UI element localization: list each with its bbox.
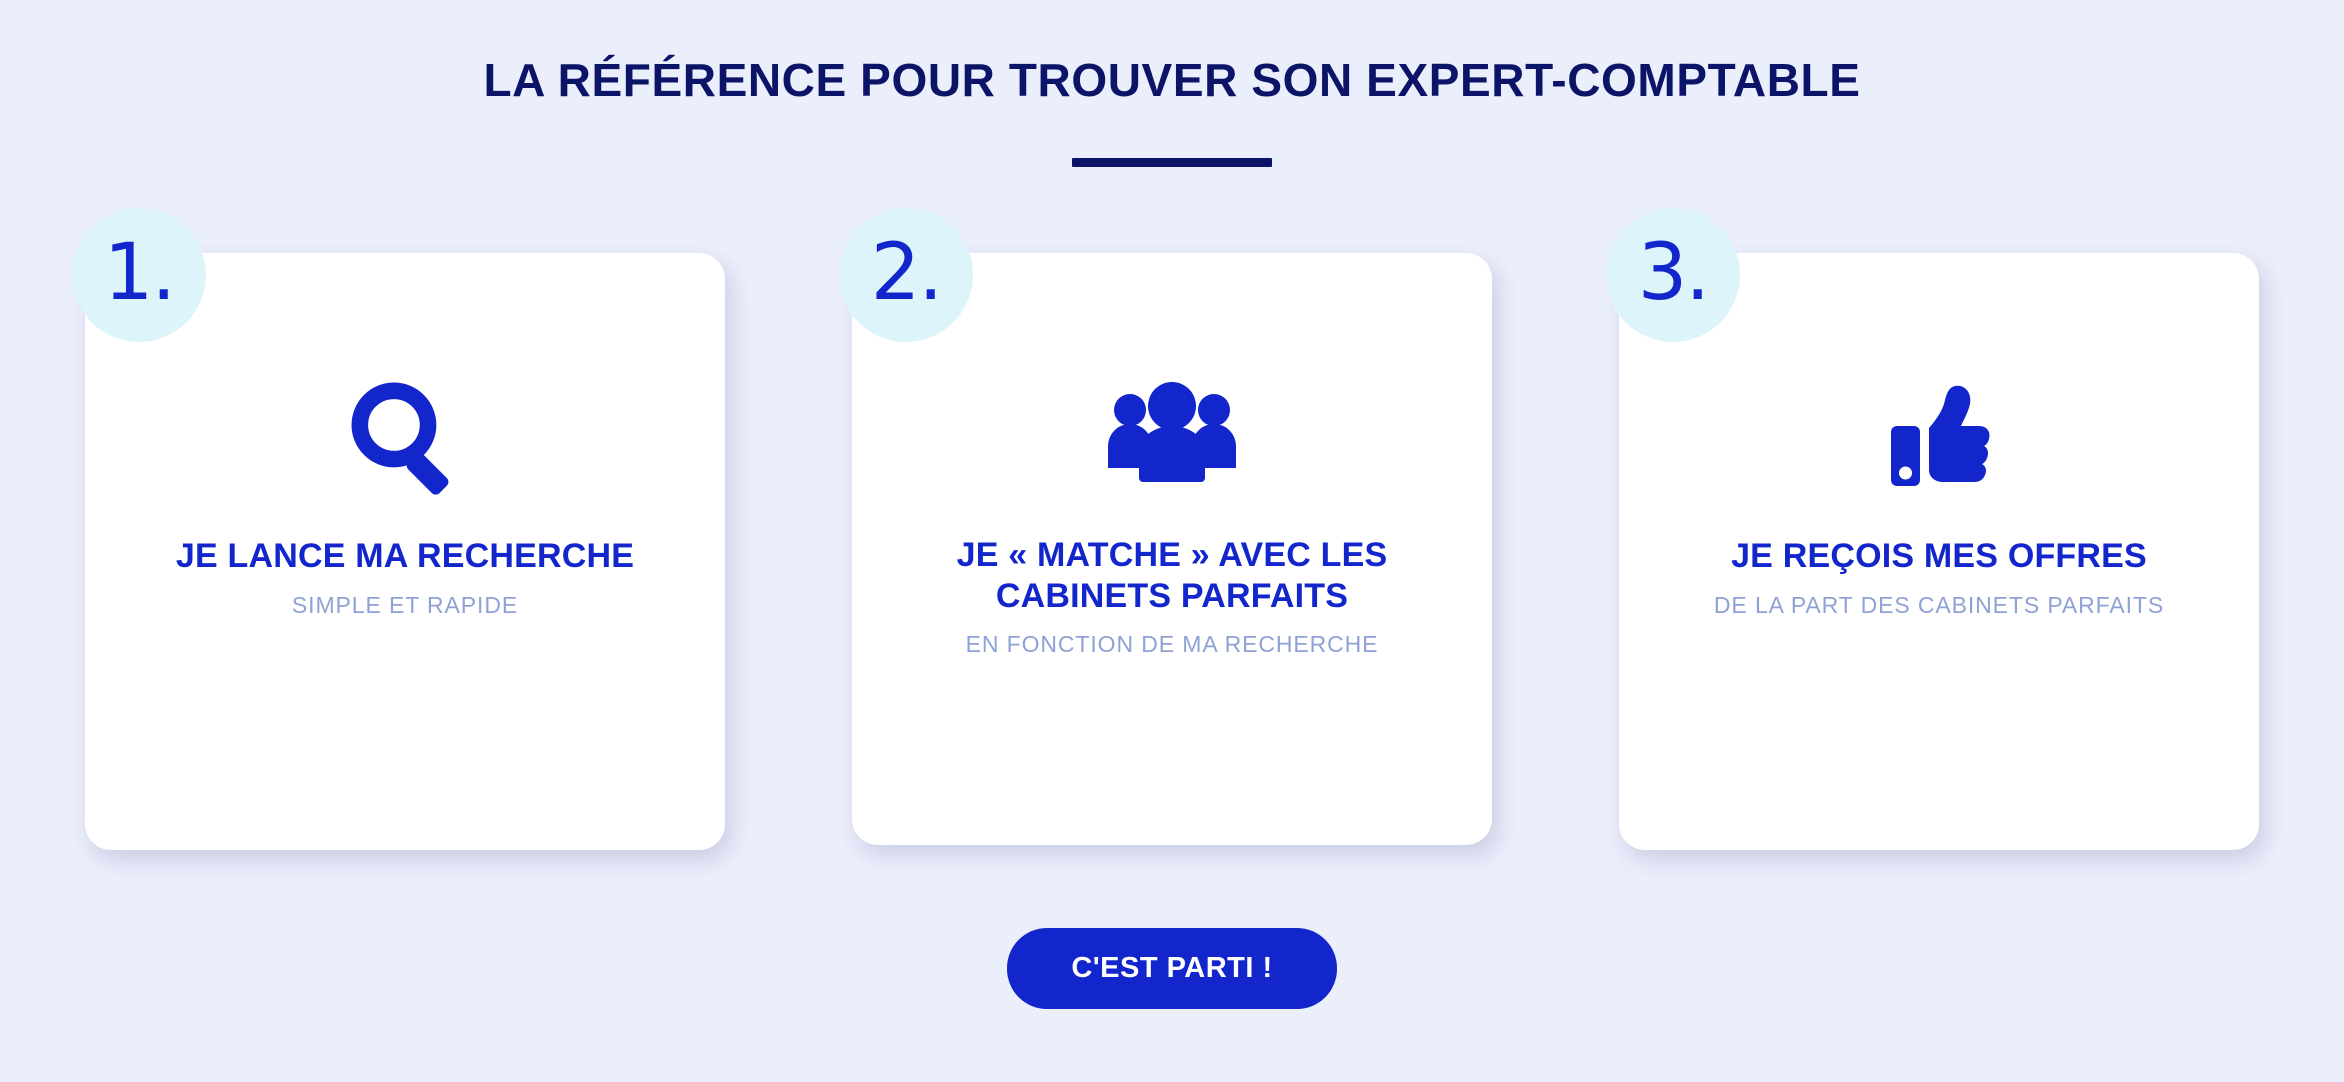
steps-list: 1. JE LANCE MA RECHERCHE SIMPLE ET RAPID… xyxy=(85,253,2259,850)
cta-container: C'EST PARTI ! xyxy=(0,928,2344,1009)
step-card-3[interactable]: 3. JE REÇOIS MES OFFRES DE LA PART DES C… xyxy=(1619,253,2259,850)
step-number-label: 2. xyxy=(871,234,941,312)
people-group-icon xyxy=(886,373,1458,491)
how-it-works-section: LA RÉFÉRENCE POUR TROUVER SON EXPERT-COM… xyxy=(0,0,2344,1082)
step-card-1[interactable]: 1. JE LANCE MA RECHERCHE SIMPLE ET RAPID… xyxy=(85,253,725,850)
step-number-label: 1. xyxy=(104,234,174,312)
title-divider xyxy=(1072,158,1272,167)
step-number-label: 3. xyxy=(1638,234,1708,312)
step-subtitle: DE LA PART DES CABINETS PARFAITS xyxy=(1653,591,2225,621)
step-title: JE « MATCHE » AVEC LES CABINETS PARFAITS xyxy=(886,535,1458,618)
step-number-badge-3: 3. xyxy=(1606,208,1740,342)
step-number-badge-1: 1. xyxy=(72,208,206,342)
section-header: LA RÉFÉRENCE POUR TROUVER SON EXPERT-COM… xyxy=(0,52,2344,167)
thumbs-up-icon xyxy=(1653,373,2225,498)
step-card-2[interactable]: 2. JE « MATCHE xyxy=(852,253,1492,845)
search-icon xyxy=(119,373,691,498)
step-title: JE LANCE MA RECHERCHE xyxy=(119,536,691,577)
step-subtitle: SIMPLE ET RAPIDE xyxy=(119,591,691,621)
step-number-badge-2: 2. xyxy=(839,208,973,342)
page-title: LA RÉFÉRENCE POUR TROUVER SON EXPERT-COM… xyxy=(0,52,2344,108)
start-button[interactable]: C'EST PARTI ! xyxy=(1007,928,1336,1009)
step-title: JE REÇOIS MES OFFRES xyxy=(1653,536,2225,577)
step-subtitle: EN FONCTION DE MA RECHERCHE xyxy=(886,630,1458,660)
